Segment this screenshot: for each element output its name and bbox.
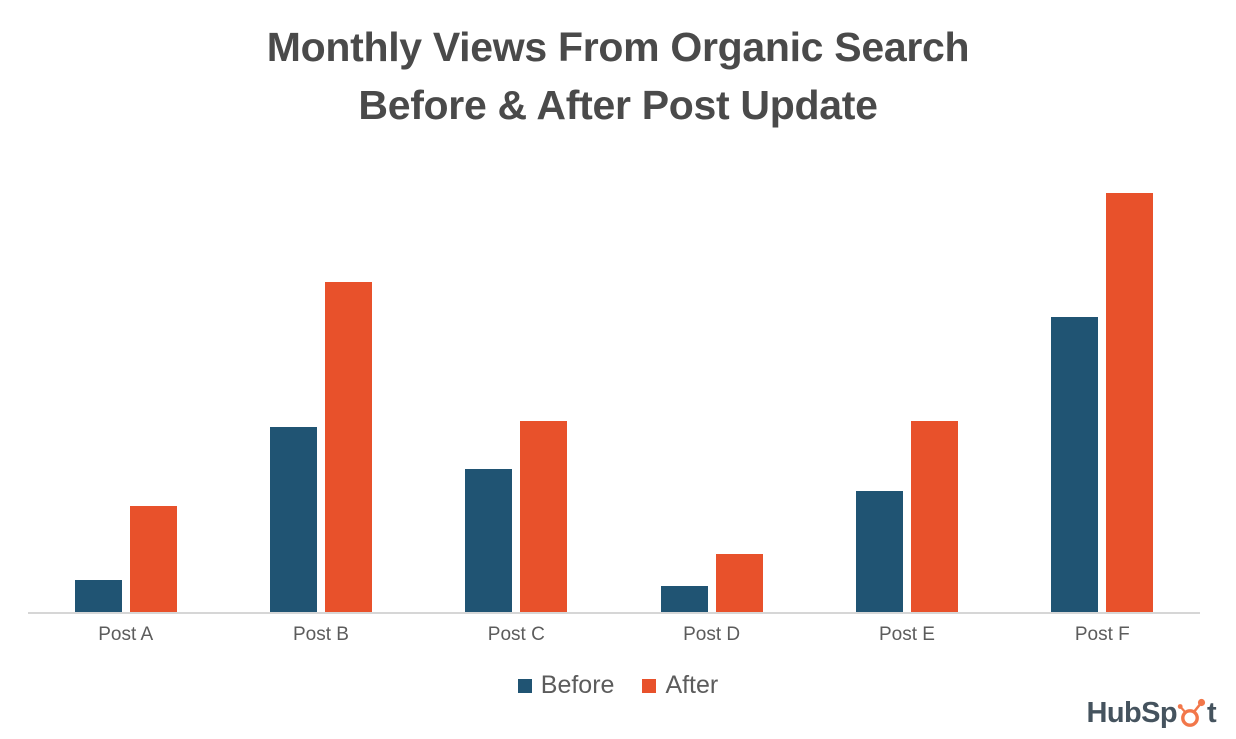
page-title-line-2: Before & After Post Update (0, 76, 1236, 134)
hubspot-wordmark-tail: t (1207, 699, 1216, 728)
bar-after-post-c[interactable] (520, 421, 567, 612)
bar-after-post-f[interactable] (1106, 193, 1153, 612)
hubspot-sprocket-icon (1177, 697, 1207, 729)
x-axis-label-post-c: Post C (419, 624, 614, 646)
legend-swatch-after-icon (642, 679, 656, 693)
bar-before-post-a[interactable] (75, 580, 122, 612)
bar-group (1005, 180, 1200, 612)
bar-after-post-a[interactable] (130, 506, 177, 612)
hubspot-wordmark-head: HubSp (1087, 699, 1177, 728)
bar-group (223, 180, 418, 612)
legend-item-before[interactable]: Before (518, 673, 615, 698)
page-title: Monthly Views From Organic Search Before… (0, 18, 1236, 134)
legend-label-before: Before (541, 673, 615, 698)
bar-group (419, 180, 614, 612)
bar-group (614, 180, 809, 612)
x-axis-line (28, 612, 1200, 614)
x-axis-label-post-f: Post F (1005, 624, 1200, 646)
bar-group (28, 180, 223, 612)
hubspot-logo: HubSp t (1087, 697, 1217, 729)
chart-plot-area (28, 180, 1200, 614)
legend-label-after: After (665, 673, 718, 698)
x-axis-label-post-d: Post D (614, 624, 809, 646)
legend-item-after[interactable]: After (642, 673, 718, 698)
bar-group (809, 180, 1004, 612)
bar-before-post-c[interactable] (465, 469, 512, 612)
legend-swatch-before-icon (518, 679, 532, 693)
bar-after-post-d[interactable] (716, 554, 763, 612)
x-axis-tick-labels: Post APost BPost CPost DPost EPost F (28, 624, 1200, 646)
bar-before-post-f[interactable] (1051, 317, 1098, 612)
x-axis-label-post-a: Post A (28, 624, 223, 646)
chart-legend: Before After (0, 673, 1236, 698)
page-title-line-1: Monthly Views From Organic Search (0, 18, 1236, 76)
x-axis-label-post-b: Post B (223, 624, 418, 646)
bar-after-post-e[interactable] (911, 421, 958, 612)
bar-before-post-d[interactable] (661, 586, 708, 612)
bar-before-post-e[interactable] (856, 491, 903, 612)
x-axis-label-post-e: Post E (809, 624, 1004, 646)
bar-before-post-b[interactable] (270, 427, 317, 612)
bar-groups (28, 180, 1200, 612)
bar-after-post-b[interactable] (325, 282, 372, 612)
